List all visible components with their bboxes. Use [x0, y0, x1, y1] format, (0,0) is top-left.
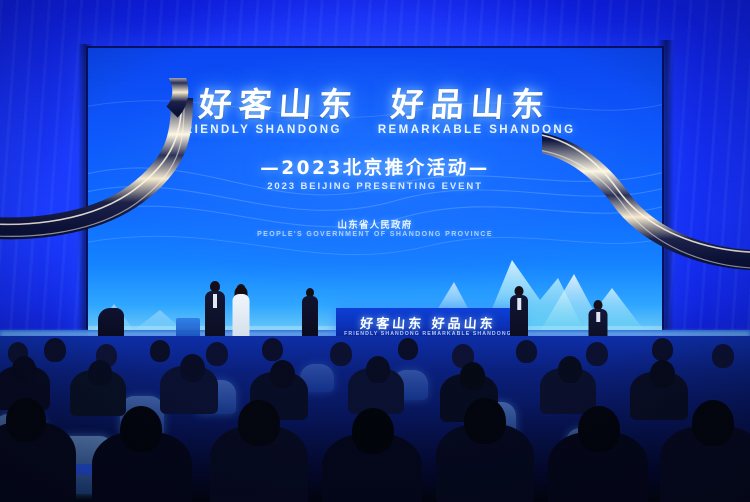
english-remarkable-shandong: REMARKABLE SHANDONG	[378, 124, 576, 136]
audience-head	[180, 354, 205, 382]
audience-head	[120, 406, 162, 452]
audience-head	[88, 360, 112, 386]
organizer-name-cn: 山东省人民政府	[88, 217, 662, 231]
shirt	[517, 298, 521, 310]
audience-head	[262, 338, 283, 361]
audience-head	[6, 398, 46, 442]
audience-area	[0, 336, 750, 502]
audience-head	[712, 344, 734, 368]
english-subtitle-row: FRIENDLY SHANDONG REMARKABLE SHANDONG	[88, 124, 662, 136]
audience-head	[44, 338, 66, 362]
audience-head	[460, 362, 485, 390]
audience-head	[652, 338, 673, 361]
audience-head	[464, 398, 506, 444]
audience-head	[352, 408, 394, 454]
audience-head	[238, 400, 280, 446]
audience-head	[650, 360, 675, 388]
event-subtitle-cn: —2023北京推介活动—	[88, 154, 662, 180]
audience-head	[558, 356, 582, 383]
audience-head	[578, 406, 620, 452]
audience-head	[330, 342, 352, 366]
english-friendly-shandong: FRIENDLY SHANDONG	[175, 124, 342, 136]
podium-banner-cn: 好客山东 好品山东	[336, 313, 520, 332]
audience-head	[206, 342, 228, 366]
person-host-female	[229, 284, 253, 343]
audience-head	[150, 340, 170, 362]
shirt	[596, 312, 600, 322]
audience-head	[586, 342, 608, 366]
audience-head	[366, 356, 390, 383]
calligraphy-remarkable-shandong: 好品山东	[389, 78, 552, 126]
event-subtitle-en: 2023 BEIJING PRESENTING EVENT	[88, 181, 662, 192]
audience-head	[398, 338, 418, 360]
person-staff-left	[300, 288, 320, 343]
audience-head	[692, 400, 734, 446]
audience-head	[12, 356, 36, 382]
audience-head	[516, 340, 537, 363]
calligraphy-friendly-shandong: 好客山东	[197, 78, 360, 126]
led-screen: 好客山东 好品山东 FRIENDLY SHANDONG REMARKABLE S…	[88, 48, 662, 340]
audience-head	[270, 360, 295, 388]
person-host-male	[203, 281, 227, 343]
event-photo: 好客山东 好品山东 FRIENDLY SHANDONG REMARKABLE S…	[0, 0, 750, 502]
calligraphy-row: 好客山东 好品山东	[88, 78, 662, 126]
shirt	[213, 294, 217, 308]
